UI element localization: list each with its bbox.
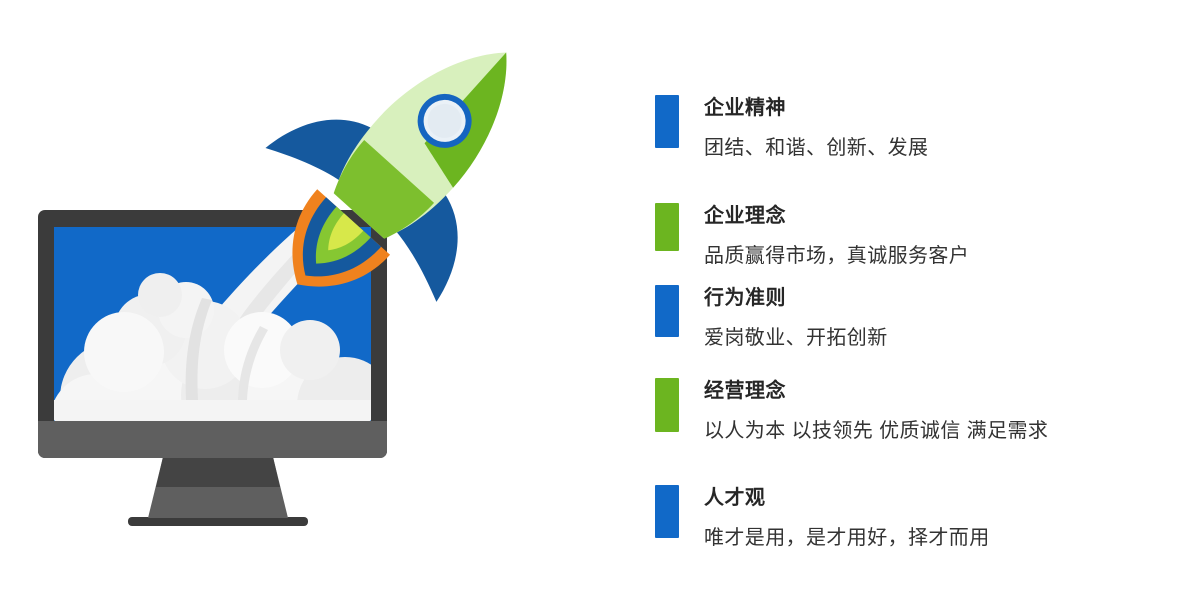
list-item: 企业精神 团结、和谐、创新、发展: [655, 95, 928, 161]
entry-accent-bar: [655, 285, 679, 337]
list-item: 企业理念 品质赢得市场，真诚服务客户: [655, 203, 969, 269]
entry-text-block: 企业理念 品质赢得市场，真诚服务客户: [704, 203, 969, 269]
entry-accent-bar: [655, 203, 679, 251]
entry-description: 以人为本 以技领先 优质诚信 满足需求: [704, 418, 1048, 444]
rocket-monitor-illustration: [0, 0, 620, 606]
monitor-base: [128, 517, 308, 526]
slide-canvas: 企业精神 团结、和谐、创新、发展 企业理念 品质赢得市场，真诚服务客户 行为准则…: [0, 0, 1197, 606]
entry-text-block: 企业精神 团结、和谐、创新、发展: [704, 95, 928, 161]
entry-text-block: 行为准则 爱岗敬业、开拓创新: [704, 285, 888, 351]
entry-text-block: 经营理念 以人为本 以技领先 优质诚信 满足需求: [704, 378, 1048, 444]
culture-entry-list: 企业精神 团结、和谐、创新、发展 企业理念 品质赢得市场，真诚服务客户 行为准则…: [655, 0, 1197, 606]
list-item: 经营理念 以人为本 以技领先 优质诚信 满足需求: [655, 378, 1048, 444]
entry-title: 行为准则: [704, 285, 888, 311]
entry-description: 团结、和谐、创新、发展: [704, 135, 928, 161]
entry-description: 品质赢得市场，真诚服务客户: [704, 243, 969, 269]
entry-title: 经营理念: [704, 378, 1048, 404]
entry-title: 人才观: [704, 485, 990, 511]
entry-accent-bar: [655, 485, 679, 538]
list-item: 人才观 唯才是用，是才用好，择才而用: [655, 485, 990, 551]
entry-title: 企业精神: [704, 95, 928, 121]
entry-text-block: 人才观 唯才是用，是才用好，择才而用: [704, 485, 990, 551]
monitor-stand: [148, 457, 288, 518]
entry-title: 企业理念: [704, 203, 969, 229]
entry-description: 唯才是用，是才用好，择才而用: [704, 525, 990, 551]
entry-description: 爱岗敬业、开拓创新: [704, 325, 888, 351]
entry-accent-bar: [655, 95, 679, 148]
entry-accent-bar: [655, 378, 679, 432]
list-item: 行为准则 爱岗敬业、开拓创新: [655, 285, 888, 351]
